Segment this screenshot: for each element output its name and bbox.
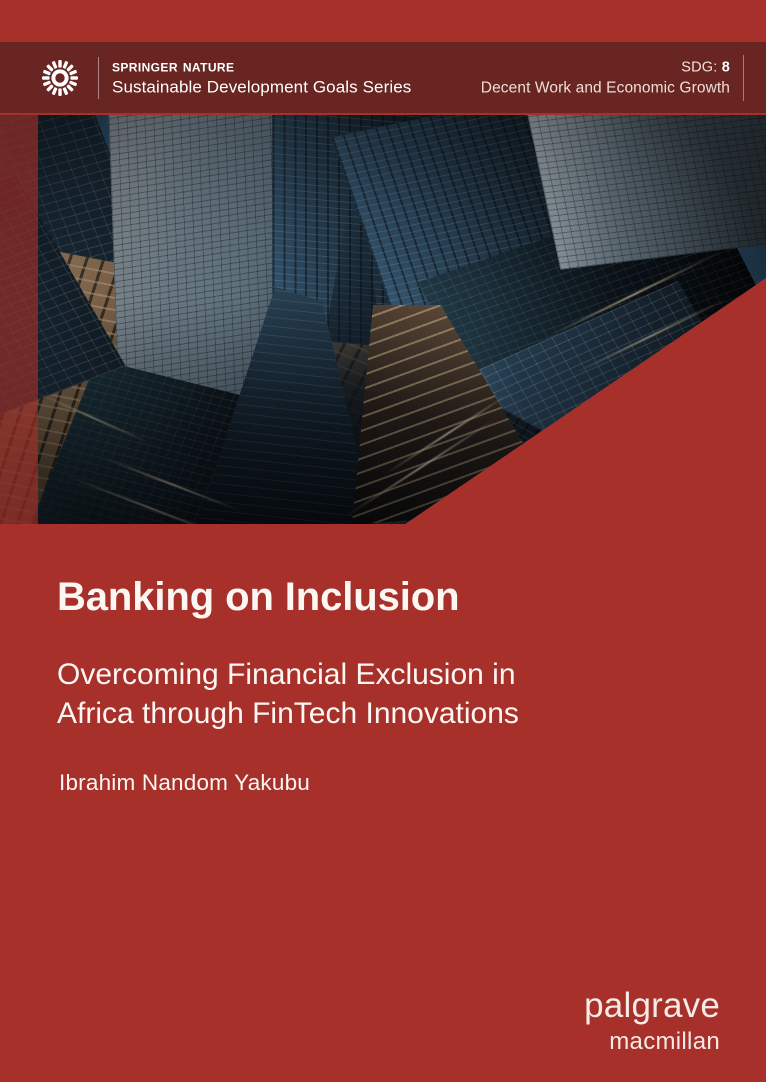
sdg-series-label: Sustainable Development Goals Series [112, 78, 411, 98]
springer-nature-text: Springer Nature Sustainable Development … [112, 57, 411, 98]
springer-nature-sunburst-logo-icon [40, 58, 80, 98]
sdg-number-line: SDG: 8 [481, 58, 730, 76]
book-cover: Springer Nature Sustainable Development … [0, 0, 766, 1082]
book-subtitle-line-1: Overcoming Financial Exclusion in [57, 655, 697, 694]
book-subtitle-line-2: Africa through FinTech Innovations [57, 694, 697, 733]
sdg-number: 8 [722, 59, 730, 75]
book-subtitle: Overcoming Financial Exclusion in Africa… [57, 655, 697, 733]
publisher-name-macmillan: macmillan [584, 1030, 720, 1054]
sdg-goal-name: Decent Work and Economic Growth [481, 78, 730, 97]
sdg-info-block: SDG: 8 Decent Work and Economic Growth [481, 58, 730, 98]
sdg-label: SDG: [681, 59, 717, 75]
skyscrapers-photograph [0, 115, 766, 524]
header-divider [98, 57, 99, 99]
publisher-logo: palgrave macmillan [584, 988, 720, 1054]
book-author: Ibrahim Nandom Yakubu [59, 770, 699, 796]
building [523, 115, 766, 270]
sdg-right-divider [743, 55, 744, 101]
springer-nature-brand: Springer Nature [112, 57, 411, 76]
publisher-name-palgrave: palgrave [584, 988, 720, 1023]
sdg-header-band: Springer Nature Sustainable Development … [0, 42, 766, 113]
book-title: Banking on Inclusion [57, 575, 717, 620]
